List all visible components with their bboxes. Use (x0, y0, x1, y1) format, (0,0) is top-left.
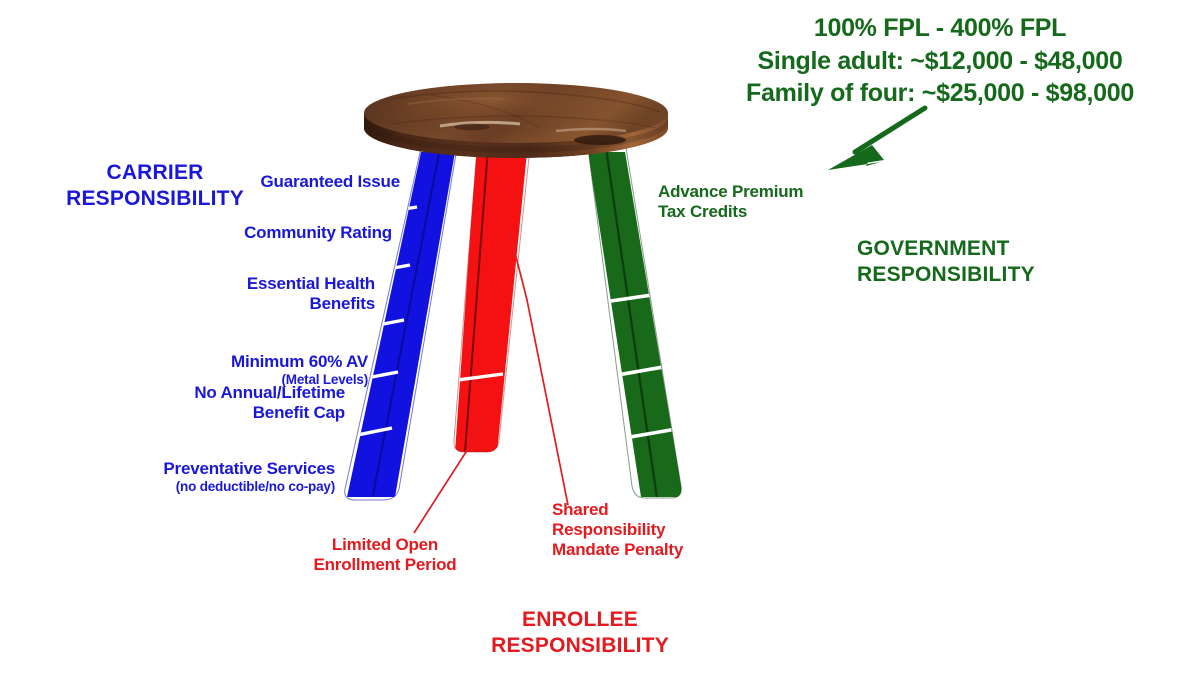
carrier-item-no-benefit-cap: No Annual/Lifetime Benefit Cap (130, 383, 345, 423)
blue-leg-outline (345, 148, 457, 500)
enrollee-leader-lines (414, 228, 568, 533)
enrollee-item-limited-open-enrollment: Limited Open Enrollment Period (285, 535, 485, 575)
carrier-item-guaranteed-issue: Guaranteed Issue (180, 172, 400, 192)
red-leg-outline (454, 148, 530, 452)
red-leg (450, 148, 530, 452)
group-title-government: GOVERNMENT RESPONSIBILITY (857, 236, 1187, 287)
carrier-item-preventative-services-label: Preventative Services (163, 459, 335, 478)
wooden-stool-seat (364, 83, 668, 158)
government-callout-text: 100% FPL - 400% FPL Single adult: ~$12,0… (690, 12, 1190, 110)
blue-leg (328, 148, 457, 500)
infographic-canvas: 100% FPL - 400% FPL Single adult: ~$12,0… (0, 0, 1200, 676)
green-callout-arrow (828, 108, 925, 170)
carrier-item-preventative-services-sub: (no deductible/no co-pay) (110, 479, 335, 495)
government-item-advance-premium-tax-credits: Advance Premium Tax Credits (658, 182, 868, 222)
group-title-enrollee: ENROLLEE RESPONSIBILITY (430, 607, 730, 658)
carrier-item-community-rating: Community Rating (170, 223, 392, 243)
carrier-item-essential-health-benefits: Essential Health Benefits (155, 274, 375, 314)
carrier-item-minimum-av-label: Minimum 60% AV (231, 352, 368, 371)
enrollee-item-shared-responsibility: Shared Responsibility Mandate Penalty (552, 500, 782, 560)
carrier-item-preventative-services: Preventative Services (no deductible/no … (110, 439, 335, 515)
